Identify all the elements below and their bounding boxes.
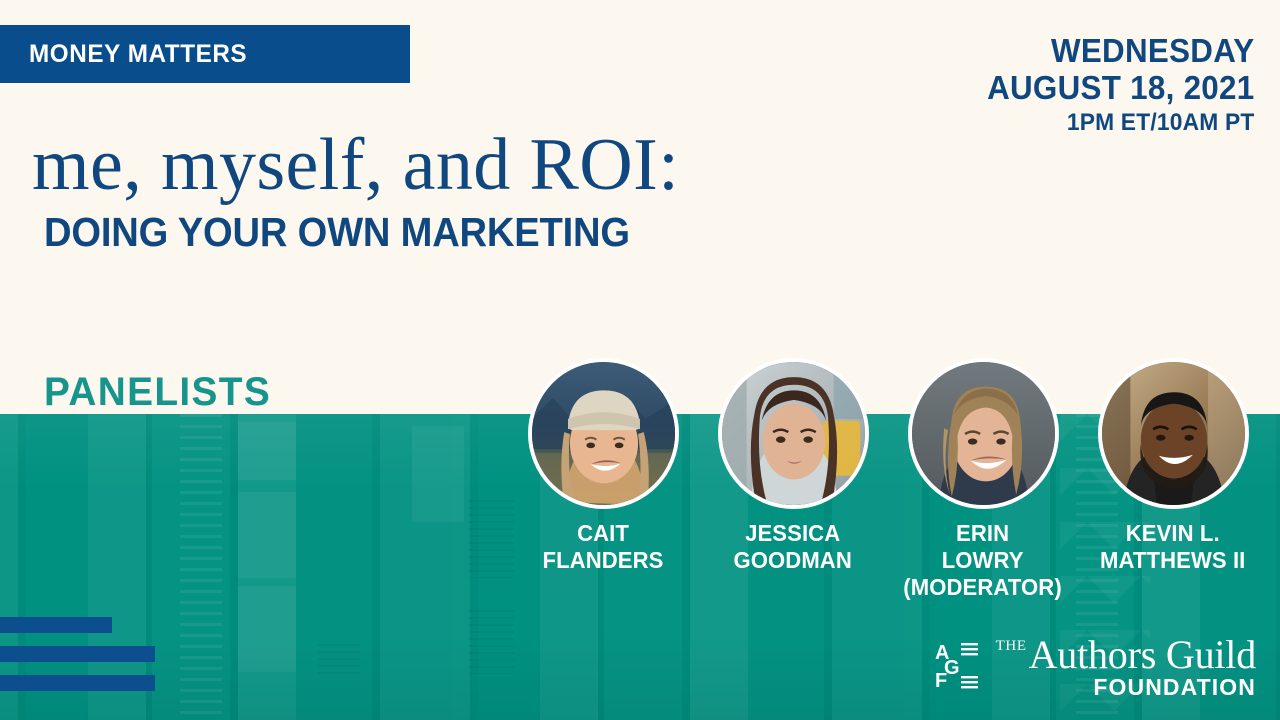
panelist-card: ERIN LOWRY (MODERATOR) bbox=[888, 358, 1078, 601]
accent-bars bbox=[0, 617, 155, 704]
avatar-cait-flanders bbox=[528, 358, 679, 509]
accent-bar bbox=[0, 617, 112, 633]
panelist-name-line1: CAIT bbox=[577, 520, 629, 546]
authors-guild-foundation-logo: A G F THE Authors Guild FOUNDATION bbox=[935, 637, 1256, 700]
panelists-row: CAIT FLANDERS bbox=[508, 358, 1268, 601]
avatar-kevin-matthews bbox=[1098, 358, 1249, 509]
panelist-card: KEVIN L. MATTHEWS II bbox=[1078, 358, 1268, 601]
event-date-block: WEDNESDAY AUGUST 18, 2021 1PM ET/10AM PT bbox=[973, 33, 1254, 139]
panelist-card: CAIT FLANDERS bbox=[508, 358, 698, 601]
accent-bar bbox=[0, 675, 155, 691]
event-day-of-week: WEDNESDAY bbox=[987, 33, 1254, 70]
logo-wordmark: THE Authors Guild FOUNDATION bbox=[996, 637, 1256, 700]
panelist-name: ERIN LOWRY bbox=[942, 520, 1024, 574]
panelist-card: JESSICA GOODMAN bbox=[698, 358, 888, 601]
series-badge: MONEY MATTERS bbox=[0, 25, 410, 83]
series-badge-label: MONEY MATTERS bbox=[29, 42, 247, 67]
avatar-erin-lowry bbox=[908, 358, 1059, 509]
page-title: me, myself, and ROI: bbox=[32, 128, 679, 202]
page-subtitle: DOING YOUR OWN MARKETING bbox=[44, 212, 630, 253]
panelist-name: KEVIN L. MATTHEWS II bbox=[1100, 520, 1245, 574]
panelist-name-line2: FLANDERS bbox=[543, 547, 664, 573]
event-time: 1PM ET/10AM PT bbox=[987, 107, 1254, 139]
panelist-role: (MODERATOR) bbox=[904, 574, 1062, 601]
svg-text:F: F bbox=[935, 670, 947, 692]
panelist-name-line2: GOODMAN bbox=[734, 547, 852, 573]
logo-name: Authors Guild bbox=[1029, 637, 1256, 674]
accent-bar bbox=[0, 646, 155, 662]
logo-foundation: FOUNDATION bbox=[1093, 675, 1256, 700]
panelist-name-line2: MATTHEWS II bbox=[1100, 547, 1245, 573]
panelist-name-line1: JESSICA bbox=[745, 520, 840, 546]
panelist-name: CAIT FLANDERS bbox=[543, 520, 664, 574]
panelist-name: JESSICA GOODMAN bbox=[734, 520, 852, 574]
panelist-name-line1: KEVIN L. bbox=[1126, 520, 1220, 546]
event-full-date: AUGUST 18, 2021 bbox=[987, 70, 1254, 107]
agf-monogram-icon: A G F bbox=[935, 640, 987, 697]
panelist-name-line1: ERIN bbox=[956, 520, 1009, 546]
logo-the: THE bbox=[996, 639, 1027, 654]
avatar-jessica-goodman bbox=[718, 358, 869, 509]
panelist-name-line2: LOWRY bbox=[942, 547, 1024, 573]
webinar-promo-poster: MONEY MATTERS WEDNESDAY AUGUST 18, 2021 … bbox=[0, 0, 1280, 720]
logo-name-line: THE Authors Guild bbox=[996, 637, 1256, 674]
panelists-heading: PANELISTS bbox=[44, 372, 271, 412]
